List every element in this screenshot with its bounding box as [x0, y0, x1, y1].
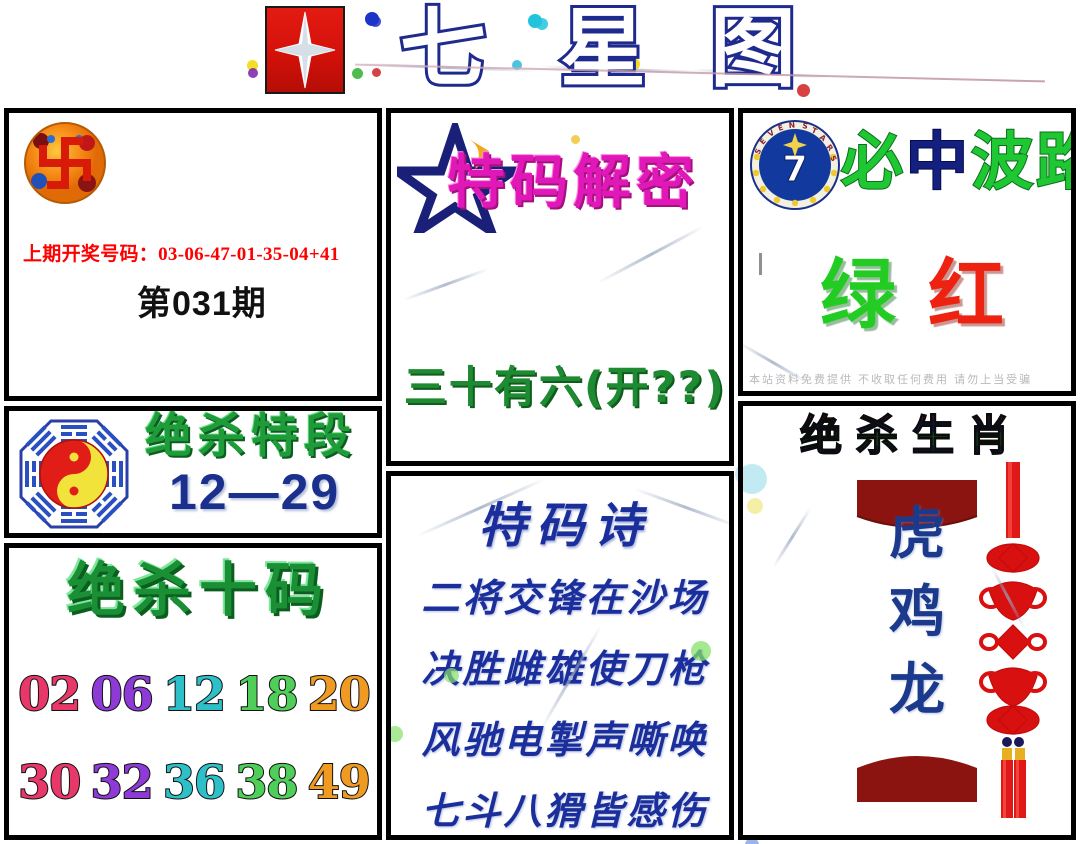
star-burst-icon	[273, 10, 337, 90]
kill-zodiac-title-text: 绝杀生肖	[800, 412, 1024, 460]
header-title-char-3: 图	[710, 4, 796, 94]
kill-zodiac-panel: 绝杀生肖 虎 鸡 龙	[738, 401, 1076, 840]
orange-swastika-logo	[21, 119, 109, 207]
page-header: 七 星 图	[0, 0, 1080, 104]
kill-zodiac-title: 绝杀生肖	[743, 412, 1076, 460]
poem-title: 特码诗	[391, 486, 734, 556]
header-title-char-2: 星	[560, 4, 646, 94]
wave-color-red: 红	[928, 253, 1004, 337]
kill-number: 32	[91, 759, 153, 805]
wave-route-title-char: 中	[906, 127, 971, 197]
disclaimer-faint-text: 本站资料免费提供 不收取任何费用 请勿上当受骗	[749, 371, 1076, 387]
issue-info-panel: 上期开奖号码：03-06-47-01-35-04+41 第031期	[4, 108, 382, 401]
kill-number: 06	[91, 671, 153, 717]
wave-route-title-char: 波	[971, 127, 1036, 197]
kill-section-title: 绝杀特段	[145, 411, 357, 463]
wave-route-title-char: 路	[1036, 127, 1076, 197]
special-code-decode-panel: 特码解密 三十有六(开??)	[386, 108, 734, 466]
wave-route-colors: 绿红	[743, 253, 1076, 337]
special-code-poem-panel: 特码诗 二将交锋在沙场 决胜雌雄使刀枪 风驰电掣声嘶唤 七斗八猾皆感伤	[386, 471, 734, 840]
header-title-char-1: 七	[400, 4, 486, 94]
kill-number: 18	[235, 671, 297, 717]
wave-route-title-char: 必	[841, 127, 906, 197]
chinese-knot-decoration	[977, 462, 1049, 822]
confetti-dot	[528, 14, 542, 28]
kill-number: 49	[308, 759, 370, 805]
kill-number: 12	[163, 671, 225, 717]
kill-ten-number-grid: 02 06 12 18 20 30 32 36 38 49	[13, 650, 375, 826]
kill-number: 30	[18, 759, 80, 805]
zodiac-animal: 虎	[853, 496, 981, 574]
decode-title: 特码解密	[447, 151, 699, 213]
wave-color-green: 绿	[820, 253, 896, 337]
kill-number: 36	[163, 759, 225, 805]
kill-ten-numbers-panel: 绝杀十码 02 06 12 18 20 30 32 36 38 49	[4, 543, 382, 840]
issue-number: 第031期	[137, 276, 267, 325]
poem-line: 风驰电掣声嘶唤	[391, 706, 734, 777]
number-row: 30 32 36 38 49	[13, 738, 375, 826]
poem-line: 七斗八猾皆感伤	[391, 777, 734, 840]
zodiac-animal-list: 虎 鸡 龙	[853, 496, 981, 730]
red-star-logo	[265, 6, 345, 94]
wave-route-panel: 7 S E V E N S T A R S 必中波路 绿红 本站资料免费提供 不…	[738, 108, 1076, 396]
svg-text:N: N	[788, 120, 795, 130]
zodiac-animal: 鸡	[853, 574, 981, 652]
kill-ten-title: 绝杀十码	[59, 558, 339, 622]
wave-route-title: 必中波路	[841, 127, 1076, 197]
poem-line: 二将交锋在沙场	[391, 564, 734, 635]
confetti-dot	[365, 12, 379, 26]
lottery-poster: 七 星 图 上期开	[0, 0, 1080, 844]
number-row: 02 06 12 18 20	[13, 650, 375, 738]
kill-section-range: 12—29	[169, 463, 340, 521]
poem-line: 决胜雌雄使刀枪	[391, 635, 734, 706]
zodiac-animal: 龙	[853, 652, 981, 730]
decode-result: 三十有六(开??)	[391, 353, 734, 415]
kill-number: 02	[18, 671, 80, 717]
bagua-yinyang-icon	[17, 417, 131, 531]
kill-number: 38	[235, 759, 297, 805]
seven-stars-badge-icon: 7 S E V E N S T A R S	[749, 119, 841, 211]
kill-number: 20	[308, 671, 370, 717]
previous-draw-numbers: 上期开奖号码：03-06-47-01-35-04+41	[23, 239, 340, 266]
kill-section-panel: 绝杀特段 12—29	[4, 406, 382, 538]
poem-lines: 二将交锋在沙场 决胜雌雄使刀枪 风驰电掣声嘶唤 七斗八猾皆感伤	[391, 564, 734, 840]
